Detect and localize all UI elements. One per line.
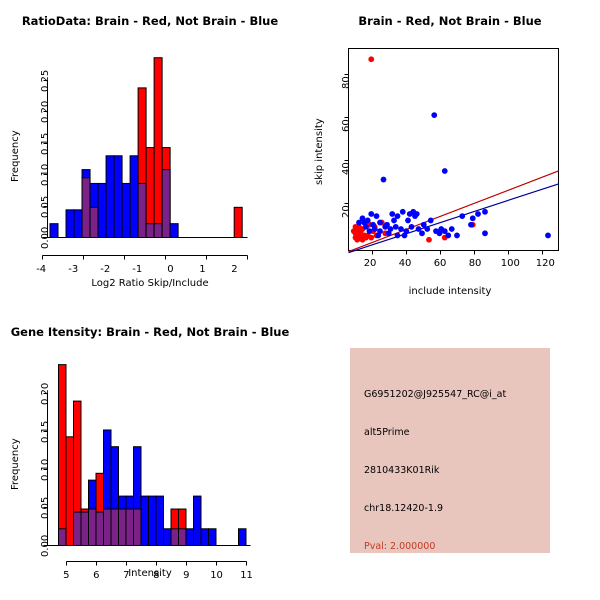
- scatter-point: [391, 218, 397, 224]
- tick-label: 80: [341, 76, 352, 89]
- histogram-bar: [114, 156, 122, 238]
- histogram-bar-overlap: [82, 178, 90, 238]
- histogram-bar-overlap: [74, 512, 82, 545]
- scatter-point: [354, 237, 360, 243]
- tick-label: -3: [68, 264, 78, 275]
- scatter-point: [459, 213, 465, 219]
- scatter-point: [400, 209, 406, 215]
- panel-scatter: Brain - Red, Not Brain - Blue include in…: [300, 0, 600, 300]
- tick-label: 2: [231, 264, 237, 275]
- scatter-point: [482, 209, 488, 215]
- histogram-bar-overlap: [179, 529, 187, 546]
- ratio-histogram-x-axis: [43, 256, 248, 260]
- scatter-point: [468, 222, 474, 228]
- info-gene-symbol: 2810433K01Rik: [364, 465, 439, 476]
- tick-label: 8: [153, 570, 159, 581]
- regression-line: [349, 184, 559, 253]
- histogram-bar-overlap: [81, 512, 89, 545]
- histogram-bar-overlap: [138, 183, 146, 237]
- scatter-fit-lines: [349, 171, 559, 253]
- ratio-histogram-bars: [50, 58, 242, 238]
- scatter-point: [470, 215, 476, 221]
- histogram-bar-overlap: [171, 529, 179, 546]
- tick-label: 60: [341, 119, 352, 132]
- histogram-bar: [186, 529, 194, 546]
- histogram-bar: [154, 58, 162, 238]
- histogram-bar-overlap: [104, 509, 112, 545]
- histogram-bar-overlap: [154, 224, 162, 238]
- tick-label: 6: [93, 570, 99, 581]
- scatter-points: [351, 56, 551, 242]
- scatter-point: [358, 228, 364, 234]
- scatter-point: [363, 235, 369, 241]
- tick-label: 20: [364, 258, 377, 269]
- scatter-point: [419, 230, 425, 236]
- histogram-bar: [156, 496, 164, 545]
- scatter-point: [442, 168, 448, 174]
- tick-label: 11: [240, 570, 253, 581]
- tick-label: 60: [434, 258, 447, 269]
- histogram-bar-overlap: [59, 529, 67, 546]
- tick-label: 0.10: [40, 164, 51, 186]
- regression-line: [349, 171, 559, 252]
- scatter-point: [386, 230, 392, 236]
- tick-label: 120: [536, 258, 555, 269]
- tick-label: 10: [210, 570, 223, 581]
- histogram-bar: [59, 365, 67, 546]
- tick-label: 0.10: [40, 459, 51, 481]
- tick-label: 7: [123, 570, 129, 581]
- tick-label: -1: [132, 264, 142, 275]
- histogram-bar: [98, 183, 106, 237]
- gene-info-panel: G6951202@J925547_RC@i_at alt5Prime 28104…: [350, 348, 550, 553]
- info-splice-type: alt5Prime: [364, 427, 409, 438]
- tick-label: -2: [100, 264, 110, 275]
- tick-label: 0.20: [40, 383, 51, 405]
- info-locus: chr18.12420-1.9: [364, 503, 443, 514]
- histogram-bar: [234, 207, 242, 237]
- tick-label: 0.00: [40, 535, 51, 557]
- tick-label: 80: [469, 258, 482, 269]
- plot-page: RatioData: Brain - Red, Not Brain - Blue…: [0, 0, 600, 600]
- tick-label: 0.05: [40, 195, 51, 217]
- histogram-bar-overlap: [126, 509, 134, 545]
- scatter-canvas: [300, 0, 600, 300]
- scatter-point: [424, 226, 430, 232]
- histogram-bar: [209, 529, 217, 546]
- scatter-point: [445, 233, 451, 239]
- tick-label: 5: [63, 570, 69, 581]
- histogram-bar: [149, 496, 157, 545]
- scatter-point: [412, 213, 418, 219]
- scatter-x-axis: [373, 251, 543, 255]
- histogram-bar: [106, 156, 114, 238]
- scatter-point: [454, 233, 460, 239]
- scatter-point: [393, 224, 399, 230]
- scatter-point: [374, 213, 380, 219]
- histogram-bar-overlap: [146, 224, 154, 238]
- info-probeset-id: G6951202@J925547_RC@i_at: [364, 389, 506, 400]
- tick-label: 0.15: [40, 133, 51, 155]
- histogram-bar: [66, 210, 74, 238]
- gene-histogram-x-axis: [67, 562, 247, 566]
- histogram-bar-overlap: [134, 509, 142, 545]
- scatter-point: [545, 233, 551, 239]
- histogram-bar: [164, 529, 172, 546]
- histogram-bar-overlap: [111, 509, 119, 545]
- info-pval: Pval: 2.000000: [364, 541, 435, 552]
- scatter-point: [370, 222, 376, 228]
- panel-gene-histogram: Gene Itensity: Brain - Red, Not Brain - …: [0, 300, 300, 600]
- scatter-point: [475, 211, 481, 217]
- scatter-point: [375, 233, 381, 239]
- scatter-point: [365, 218, 371, 224]
- scatter-point: [426, 237, 432, 243]
- histogram-bar-overlap: [90, 207, 98, 237]
- scatter-point: [409, 224, 415, 230]
- scatter-point: [382, 224, 388, 230]
- tick-label: 40: [341, 162, 352, 175]
- histogram-bar: [130, 156, 138, 238]
- tick-label: 20: [341, 205, 352, 218]
- histogram-bar-overlap: [162, 170, 170, 238]
- histogram-bar: [194, 496, 202, 545]
- histogram-bar: [122, 183, 130, 237]
- gene-histogram-bars: [59, 365, 247, 546]
- scatter-y-axis: [345, 75, 349, 204]
- scatter-point: [431, 112, 437, 118]
- scatter-point: [368, 211, 374, 217]
- histogram-bar: [239, 529, 247, 546]
- histogram-bar: [74, 210, 82, 238]
- histogram-bar: [66, 437, 74, 546]
- tick-label: 0.05: [40, 497, 51, 519]
- scatter-point: [377, 220, 383, 226]
- histogram-bar-overlap: [96, 512, 104, 545]
- scatter-point: [368, 56, 374, 62]
- tick-label: -4: [36, 264, 46, 275]
- tick-label: 0.25: [40, 70, 51, 92]
- scatter-point: [482, 230, 488, 236]
- tick-label: 100: [501, 258, 520, 269]
- histogram-bar: [50, 224, 58, 238]
- scatter-point: [381, 177, 387, 183]
- tick-label: 40: [399, 258, 412, 269]
- scatter-point: [368, 235, 374, 241]
- tick-label: 0.15: [40, 421, 51, 443]
- histogram-bar: [201, 529, 209, 546]
- histogram-bar-overlap: [89, 509, 97, 545]
- histogram-bar-overlap: [119, 509, 127, 545]
- tick-label: 0.00: [40, 227, 51, 249]
- scatter-point: [402, 233, 408, 239]
- tick-label: 9: [183, 570, 189, 581]
- scatter-point: [405, 218, 411, 224]
- tick-label: 0: [167, 264, 173, 275]
- tick-label: 0.20: [40, 101, 51, 123]
- scatter-point: [428, 218, 434, 224]
- scatter-point: [389, 211, 395, 217]
- scatter-point: [437, 230, 443, 236]
- histogram-bar: [170, 224, 178, 238]
- tick-label: 1: [199, 264, 205, 275]
- scatter-point: [398, 226, 404, 232]
- histogram-bar: [141, 496, 149, 545]
- scatter-point: [395, 233, 401, 239]
- panel-ratio-histogram: RatioData: Brain - Red, Not Brain - Blue…: [0, 0, 300, 300]
- scatter-point: [449, 226, 455, 232]
- scatter-point: [356, 220, 362, 226]
